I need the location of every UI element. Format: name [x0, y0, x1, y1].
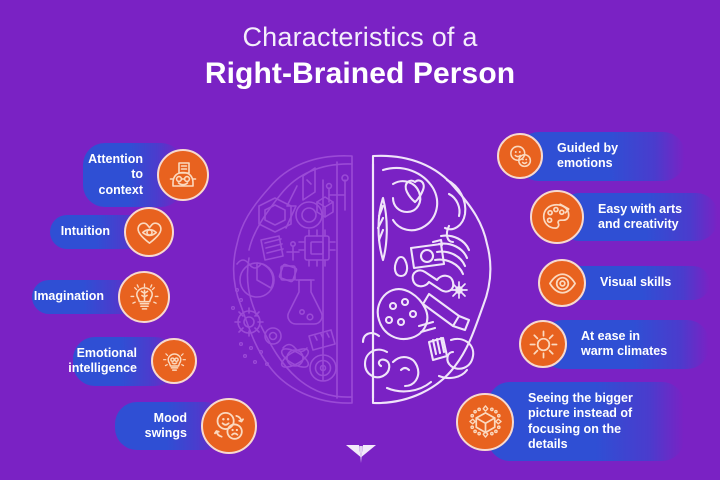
trait-row-imagination[interactable]: Imagination: [32, 271, 170, 323]
trait-label-line-1: Seeing the bigger: [528, 391, 662, 406]
trait-label-line-1: Emotional: [68, 346, 137, 361]
infographic-canvas: Characteristics of a Right-Brained Perso…: [0, 0, 720, 480]
trait-row-visual-skills[interactable]: Visual skills: [538, 259, 710, 307]
head-document-icon[interactable]: [157, 149, 209, 201]
trait-label-line-3: focusing on the details: [528, 422, 662, 453]
trait-pill-bigger-picture[interactable]: Seeing the bigger picture instead of foc…: [488, 382, 684, 461]
title-line-2: Right-Brained Person: [0, 56, 720, 92]
trait-label-line-2: warm climates: [581, 344, 667, 359]
left-brain-technical-pattern: [232, 156, 352, 403]
trait-row-bigger-picture[interactable]: Seeing the bigger picture instead of foc…: [456, 382, 684, 461]
trait-label-line-1: Easy with arts: [598, 202, 682, 217]
trait-row-mood-swings[interactable]: Mood swings: [115, 398, 257, 454]
two-smiley-faces-icon[interactable]: [497, 133, 543, 179]
trait-label-line-2: to context: [88, 167, 143, 198]
trait-label: Imagination: [34, 289, 104, 304]
happy-sad-faces-icon[interactable]: [201, 398, 257, 454]
trait-label: Guided by emotions: [557, 141, 663, 172]
trait-row-emotional-intelligence[interactable]: Emotional intelligence: [73, 337, 197, 386]
trait-row-attention-to-context[interactable]: Attention to context: [83, 143, 209, 207]
trait-label-line-1: At ease in: [581, 329, 667, 344]
trait-row-easy-with-arts[interactable]: Easy with arts and creativity: [530, 190, 718, 244]
title-line-1: Characteristics of a: [0, 22, 720, 54]
page-title: Characteristics of a Right-Brained Perso…: [0, 22, 720, 92]
right-brain-creative-pattern: [363, 156, 490, 403]
lightbulb-face-icon[interactable]: [151, 338, 197, 384]
trait-row-guided-by-emotions[interactable]: Guided by emotions: [497, 132, 685, 181]
trait-label: Intuition: [61, 224, 110, 239]
butterfly-logo: [345, 443, 377, 467]
trait-label-line-2: picture instead of: [528, 406, 662, 421]
heart-eye-icon[interactable]: [124, 207, 174, 257]
lightbulb-brain-icon[interactable]: [118, 271, 170, 323]
brain-illustration: [197, 140, 527, 420]
sun-icon[interactable]: [519, 320, 567, 368]
trait-label-line-1: Attention: [88, 152, 143, 167]
paint-palette-icon[interactable]: [530, 190, 584, 244]
trait-row-intuition[interactable]: Intuition: [50, 207, 174, 257]
trait-label-line-2: intelligence: [68, 361, 137, 376]
trait-label: Visual skills: [600, 275, 671, 290]
cube-icon[interactable]: [456, 393, 514, 451]
eye-icon[interactable]: [538, 259, 586, 307]
trait-label-line-2: and creativity: [598, 217, 682, 232]
trait-label: Mood swings: [133, 411, 187, 442]
trait-row-warm-climates[interactable]: At ease in warm climates: [519, 320, 709, 369]
